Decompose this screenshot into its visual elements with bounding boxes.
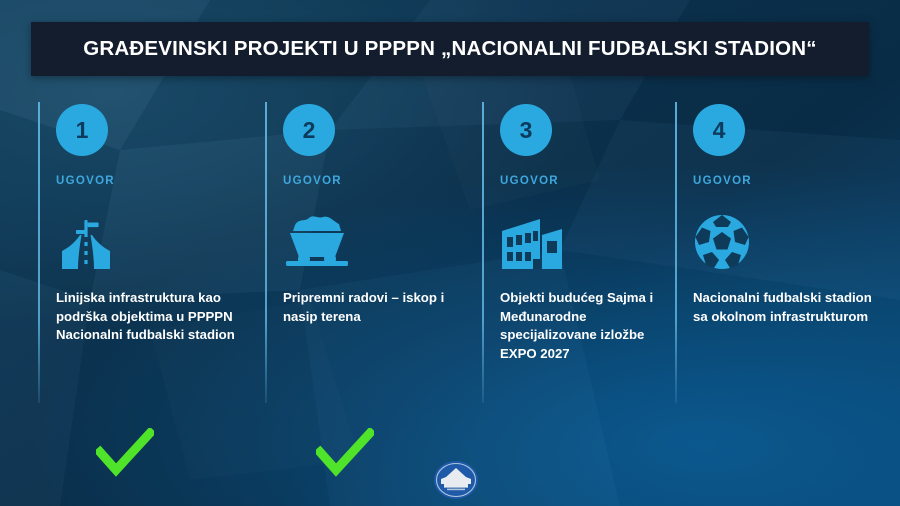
column-description-2: Pripremni radovi – iskop i nasip terena xyxy=(283,289,475,326)
soccer-ball-icon xyxy=(693,213,880,271)
contract-label-2: UGOVOR xyxy=(283,175,475,187)
contract-label-4: UGOVOR xyxy=(693,175,880,187)
columns-container: 1 UGOVOR Linijska xyxy=(0,98,900,403)
step-number-badge-3: 3 xyxy=(500,104,552,156)
step-number-badge-4: 4 xyxy=(693,104,745,156)
contract-label-1: UGOVOR xyxy=(56,175,256,187)
column-3: 3 UGOVOR xyxy=(482,98,668,403)
slide-canvas: GRAĐEVINSKI PROJEKTI U PPPPN „NACIONALNI… xyxy=(0,0,900,506)
forked-road-signpost-icon xyxy=(56,213,256,271)
exhibition-hall-building-icon xyxy=(500,213,668,271)
column-description-1: Linijska infrastruktura kao podrška obje… xyxy=(56,289,256,345)
step-number-badge-1: 1 xyxy=(56,104,108,156)
column-description-4: Nacionalni fudbalski stadion sa okolnom … xyxy=(693,289,880,326)
government-building-emblem-icon xyxy=(433,460,479,500)
step-number-badge-2: 2 xyxy=(283,104,335,156)
column-1: 1 UGOVOR Linijska xyxy=(38,98,256,403)
check-mark-icon-column-1 xyxy=(96,428,154,480)
column-2: 2 UGOVOR Pripremni radovi – iskop i nasi… xyxy=(265,98,475,403)
mine-cart-icon xyxy=(283,213,475,271)
check-mark-icon-column-2 xyxy=(316,428,374,480)
page-title: GRAĐEVINSKI PROJEKTI U PPPPN „NACIONALNI… xyxy=(83,37,817,61)
column-4: 4 UGOVOR Nacionalni fudbalski stadion sa… xyxy=(675,98,880,403)
title-bar: GRAĐEVINSKI PROJEKTI U PPPPN „NACIONALNI… xyxy=(31,22,869,76)
column-description-3: Objekti budućeg Sajma i Međunarodne spec… xyxy=(500,289,668,364)
contract-label-3: UGOVOR xyxy=(500,175,668,187)
